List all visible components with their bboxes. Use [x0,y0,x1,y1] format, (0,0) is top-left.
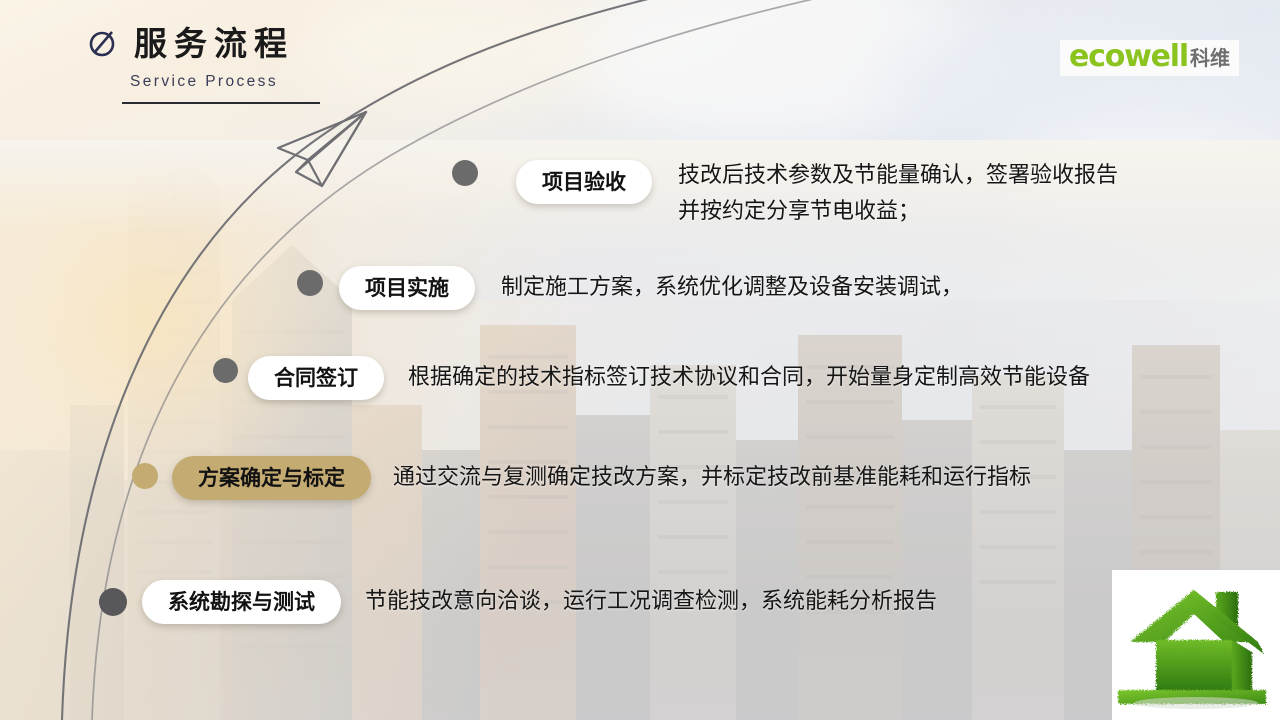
header-divider [122,102,320,104]
slide-canvas: 服务流程 Service Process ecowell 科维 项目验收 技改后… [0,0,1280,720]
green-grass-house-image [1112,570,1280,720]
node-dot-project-acceptance[interactable] [452,160,478,186]
step-desc-line: 并按约定分享节电收益； [678,194,1118,230]
step-row-project-implementation: 项目实施 制定施工方案，系统优化调整及设备安装调试， [339,266,963,310]
step-label-contract-signing[interactable]: 合同签订 [248,356,384,400]
step-desc-line: 技改后技术参数及节能量确认，签署验收报告 [678,158,1118,194]
step-desc-line: 节能技改意向洽谈，运行工况调查检测，系统能耗分析报告 [365,584,937,620]
step-row-contract-signing: 合同签订 根据确定的技术指标签订技术协议和合同，开始量身定制高效节能设备 [248,356,1090,400]
node-dot-contract-signing[interactable] [213,358,238,383]
step-label-scheme-confirmation[interactable]: 方案确定与标定 [172,456,371,500]
brand-logo-latin: ecowell [1069,43,1188,72]
eco-house-card [1112,570,1280,720]
step-row-scheme-confirmation: 方案确定与标定 通过交流与复测确定技改方案，并标定技改前基准能耗和运行指标 [172,456,1031,500]
slashed-circle-icon [86,26,120,60]
page-title: 服务流程 [134,27,294,60]
slide-header: 服务流程 Service Process [86,26,320,104]
node-dot-scheme-confirmation[interactable] [132,463,158,489]
step-row-project-acceptance: 项目验收 技改后技术参数及节能量确认，签署验收报告 并按约定分享节电收益； [516,160,1118,229]
step-desc-line: 制定施工方案，系统优化调整及设备安装调试， [501,270,963,306]
step-label-system-survey-test[interactable]: 系统勘探与测试 [142,580,341,624]
brand-logo: ecowell 科维 [1060,40,1239,76]
step-desc-line: 根据确定的技术指标签订技术协议和合同，开始量身定制高效节能设备 [408,360,1090,396]
brand-logo-cn: 科维 [1190,46,1230,72]
node-dot-system-survey-test[interactable] [99,588,127,616]
page-subtitle: Service Process [130,73,320,91]
step-label-project-implementation[interactable]: 项目实施 [339,266,475,310]
step-label-project-acceptance[interactable]: 项目验收 [516,160,652,204]
node-dot-project-implementation[interactable] [297,270,323,296]
step-desc-line: 通过交流与复测确定技改方案，并标定技改前基准能耗和运行指标 [393,460,1031,496]
step-row-system-survey-test: 系统勘探与测试 节能技改意向洽谈，运行工况调查检测，系统能耗分析报告 [142,580,937,624]
paper-plane-icon [278,112,366,186]
